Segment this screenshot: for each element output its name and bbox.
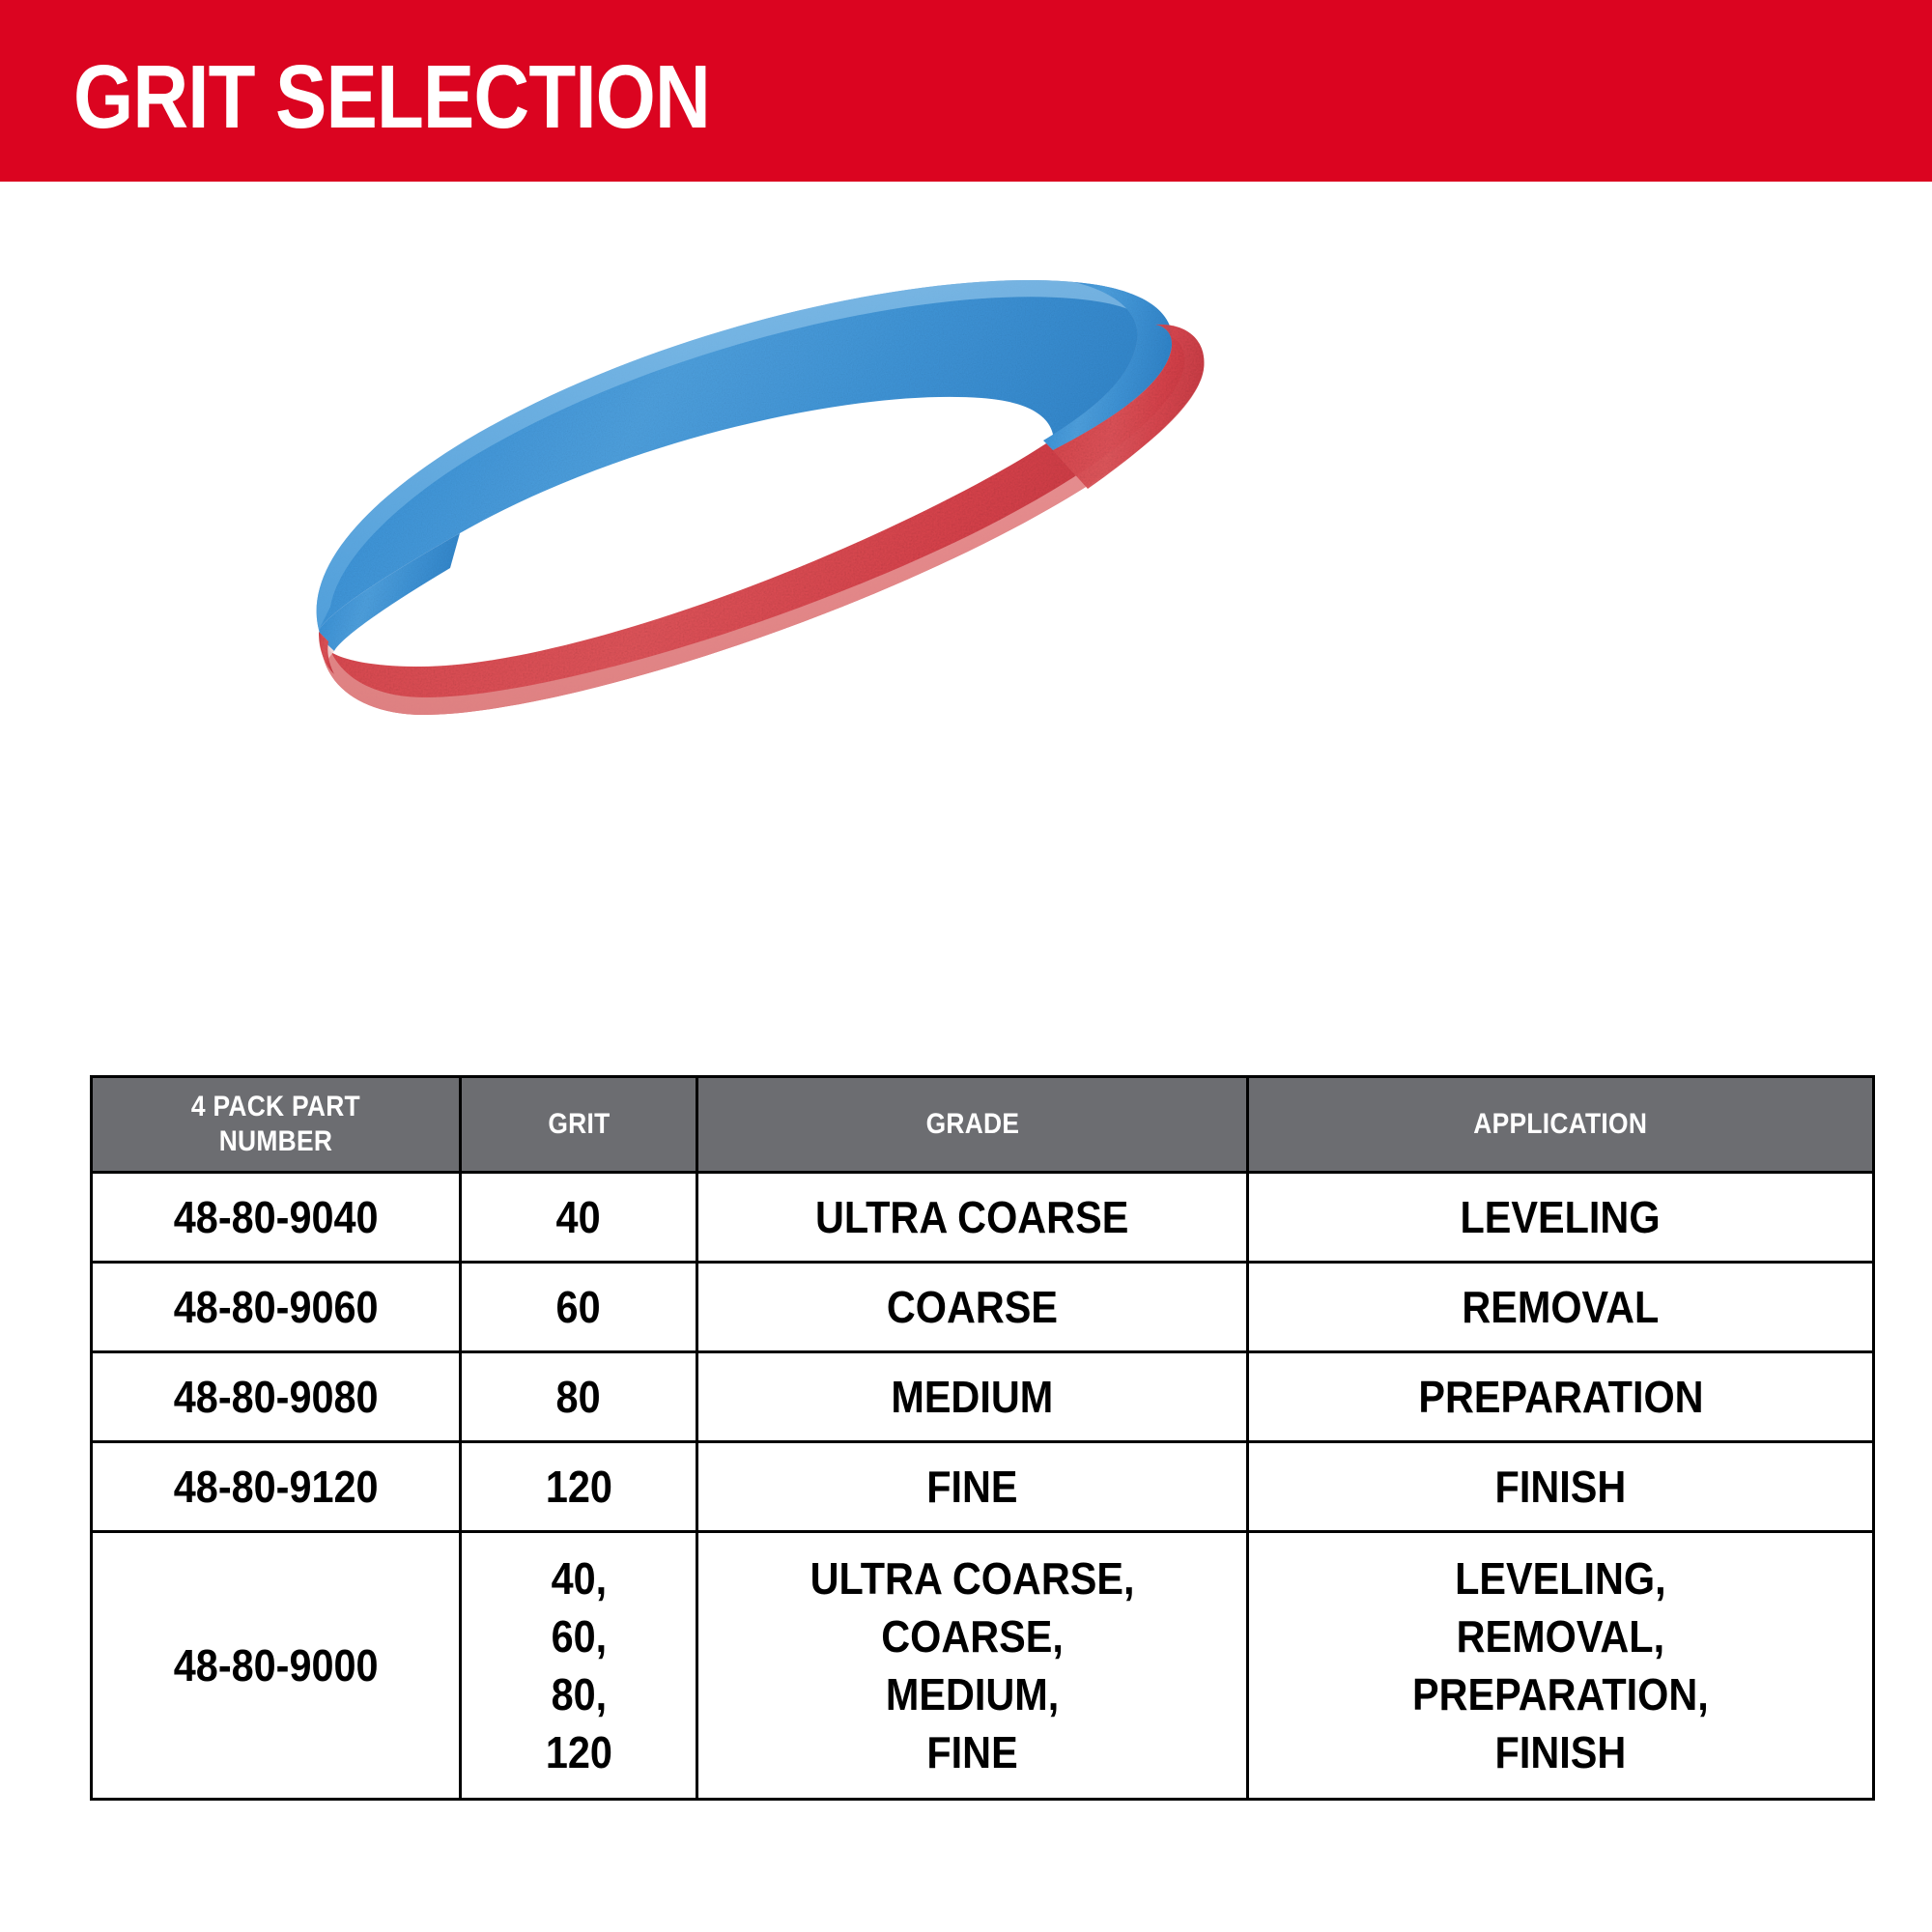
cell-grit: 40 — [461, 1173, 697, 1263]
application-value: FINISH — [1495, 1460, 1627, 1514]
column-header-grade-label: GRADE — [925, 1107, 1019, 1142]
grit-value: 40 — [556, 1190, 601, 1244]
header-banner: GRIT SELECTION — [0, 0, 1932, 182]
cell-application: PREPARATION — [1248, 1352, 1874, 1442]
cell-part-number: 48-80-9080 — [92, 1352, 461, 1442]
grit-value: 40, 60, 80, 120 — [545, 1549, 611, 1781]
part-number-value: 48-80-9120 — [174, 1460, 379, 1514]
grade-value: ULTRA COARSE — [815, 1190, 1128, 1244]
table-row: 48-80-9040 40 ULTRA COARSE LEVELING — [92, 1173, 1874, 1263]
column-header-part-number: 4 PACK PART NUMBER — [92, 1077, 461, 1173]
cell-grit: 80 — [461, 1352, 697, 1442]
grade-value: ULTRA COARSE, COARSE, MEDIUM, FINE — [810, 1549, 1135, 1781]
cell-part-number: 48-80-9000 — [92, 1532, 461, 1800]
part-number-value: 48-80-9060 — [174, 1280, 379, 1334]
grade-value: COARSE — [887, 1280, 1058, 1334]
column-header-application: APPLICATION — [1248, 1077, 1874, 1173]
cell-application: LEVELING — [1248, 1173, 1874, 1263]
grade-value: MEDIUM — [892, 1370, 1054, 1424]
application-value: REMOVAL — [1463, 1280, 1660, 1334]
application-value: LEVELING, REMOVAL, PREPARATION, FINISH — [1412, 1549, 1709, 1781]
part-number-value: 48-80-9040 — [174, 1190, 379, 1244]
page-title: GRIT SELECTION — [73, 48, 710, 145]
product-image-sanding-belt — [251, 261, 1410, 773]
column-header-application-label: APPLICATION — [1474, 1107, 1648, 1142]
grit-selection-table: 4 PACK PART NUMBER GRIT GRADE APPLICATIO… — [90, 1075, 1875, 1801]
table-row: 48-80-9080 80 MEDIUM PREPARATION — [92, 1352, 1874, 1442]
cell-grade: COARSE — [697, 1263, 1248, 1352]
cell-part-number: 48-80-9040 — [92, 1173, 461, 1263]
part-number-value: 48-80-9000 — [174, 1636, 379, 1694]
cell-grade: ULTRA COARSE, COARSE, MEDIUM, FINE — [697, 1532, 1248, 1800]
cell-part-number: 48-80-9060 — [92, 1263, 461, 1352]
part-number-value: 48-80-9080 — [174, 1370, 379, 1424]
column-header-grit-label: GRIT — [548, 1107, 610, 1142]
column-header-grit: GRIT — [461, 1077, 697, 1173]
table-row: 48-80-9000 40, 60, 80, 120 ULTRA COARSE,… — [92, 1532, 1874, 1800]
table-row: 48-80-9120 120 FINE FINISH — [92, 1442, 1874, 1532]
grit-value: 60 — [556, 1280, 601, 1334]
cell-application: REMOVAL — [1248, 1263, 1874, 1352]
cell-application: LEVELING, REMOVAL, PREPARATION, FINISH — [1248, 1532, 1874, 1800]
cell-application: FINISH — [1248, 1442, 1874, 1532]
table-row: 48-80-9060 60 COARSE REMOVAL — [92, 1263, 1874, 1352]
column-header-grade: GRADE — [697, 1077, 1248, 1173]
application-value: LEVELING — [1461, 1190, 1661, 1244]
cell-grit: 40, 60, 80, 120 — [461, 1532, 697, 1800]
table-header-row: 4 PACK PART NUMBER GRIT GRADE APPLICATIO… — [92, 1077, 1874, 1173]
grit-value: 80 — [556, 1370, 601, 1424]
grit-value: 120 — [545, 1460, 611, 1514]
cell-grade: FINE — [697, 1442, 1248, 1532]
cell-part-number: 48-80-9120 — [92, 1442, 461, 1532]
cell-grit: 120 — [461, 1442, 697, 1532]
grade-value: FINE — [926, 1460, 1017, 1514]
grit-selection-table-container: 4 PACK PART NUMBER GRIT GRADE APPLICATIO… — [90, 1075, 1872, 1801]
application-value: PREPARATION — [1418, 1370, 1703, 1424]
cell-grit: 60 — [461, 1263, 697, 1352]
cell-grade: MEDIUM — [697, 1352, 1248, 1442]
cell-grade: ULTRA COARSE — [697, 1173, 1248, 1263]
column-header-part-number-label: 4 PACK PART NUMBER — [191, 1090, 360, 1159]
